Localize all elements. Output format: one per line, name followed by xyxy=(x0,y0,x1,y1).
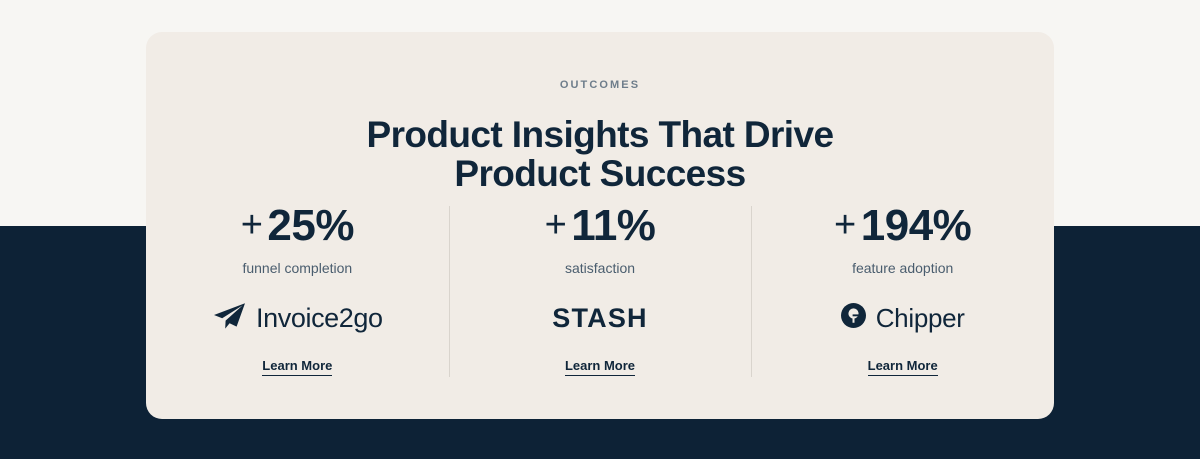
learn-more-link[interactable]: Learn More xyxy=(262,359,332,376)
page-title-line-2: Product Success xyxy=(146,154,1054,193)
stat-number: 194% xyxy=(861,204,972,248)
learn-more-wrap-1: Learn More xyxy=(164,359,431,376)
section-eyebrow: OUTCOMES xyxy=(146,80,1054,91)
plus-sign: + xyxy=(241,206,263,244)
stat-card-satisfaction: + 11% satisfaction STASH Learn More xyxy=(449,204,752,376)
stat-label: funnel completion xyxy=(164,261,431,275)
stat-card-feature-adoption: + 194% feature adoption Chipper Learn Mo… xyxy=(751,204,1054,376)
stat-label: feature adoption xyxy=(769,261,1036,275)
logo-chipper: Chipper xyxy=(769,296,1036,340)
logo-invoice2go: Invoice2go xyxy=(164,296,431,340)
logo-stash: STASH xyxy=(467,296,734,340)
page-title-line-1: Product Insights That Drive xyxy=(146,115,1054,154)
stat-value: + 25% xyxy=(164,204,431,248)
logo-wordmark: STASH xyxy=(552,305,648,332)
plus-sign: + xyxy=(834,206,856,244)
learn-more-link[interactable]: Learn More xyxy=(565,359,635,376)
page-title: Product Insights That Drive Product Succ… xyxy=(146,115,1054,193)
learn-more-wrap-2: Learn More xyxy=(467,359,734,376)
stat-number: 11% xyxy=(571,204,655,248)
stat-value: + 194% xyxy=(769,204,1036,248)
chipper-tree-circle-icon xyxy=(841,303,866,333)
outcomes-card: OUTCOMES Product Insights That Drive Pro… xyxy=(146,32,1054,419)
stat-number: 25% xyxy=(267,204,354,248)
learn-more-wrap-3: Learn More xyxy=(769,359,1036,376)
paper-plane-icon xyxy=(212,302,246,335)
plus-sign: + xyxy=(545,206,567,244)
stat-label: satisfaction xyxy=(467,261,734,275)
logo-wordmark: Chipper xyxy=(876,305,965,331)
stats-row: + 25% funnel completion Invoice2go Learn… xyxy=(146,204,1054,376)
stat-value: + 11% xyxy=(467,204,734,248)
stat-card-funnel-completion: + 25% funnel completion Invoice2go Learn… xyxy=(146,204,449,376)
logo-wordmark: Invoice2go xyxy=(256,305,383,332)
learn-more-link[interactable]: Learn More xyxy=(868,359,938,376)
